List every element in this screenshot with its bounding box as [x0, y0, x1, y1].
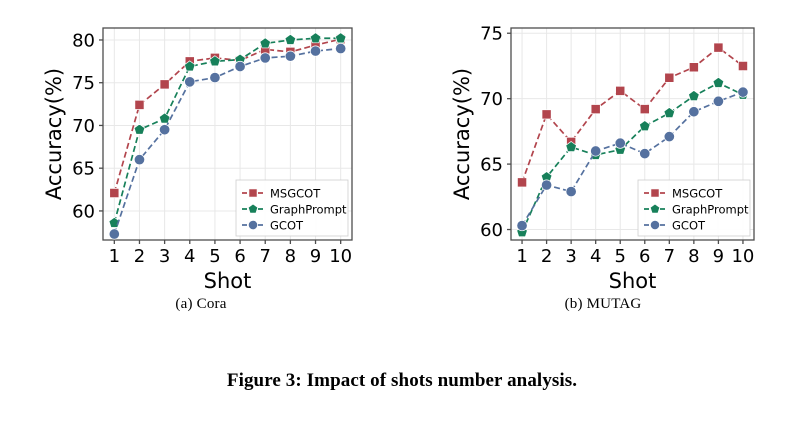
- cora-line-chart: 606570758012345678910ShotAccuracy(%)MSGC…: [0, 0, 402, 300]
- svg-text:65: 65: [72, 159, 95, 180]
- svg-text:6: 6: [234, 246, 245, 267]
- svg-text:2: 2: [541, 246, 552, 267]
- subcaption-mutag: (b) MUTAG: [402, 296, 804, 313]
- svg-text:80: 80: [72, 30, 95, 51]
- svg-text:10: 10: [329, 246, 352, 267]
- mutag-line-chart: 6065707512345678910ShotAccuracy(%)MSGCOT…: [402, 0, 804, 300]
- svg-text:60: 60: [480, 220, 503, 241]
- svg-text:Accuracy(%): Accuracy(%): [450, 68, 474, 200]
- svg-text:1: 1: [109, 246, 120, 267]
- svg-text:8: 8: [688, 246, 699, 267]
- svg-text:5: 5: [615, 246, 626, 267]
- svg-text:10: 10: [731, 246, 754, 267]
- svg-text:3: 3: [159, 246, 170, 267]
- svg-text:8: 8: [285, 246, 296, 267]
- figure-caption: Figure 3: Impact of shots number analysi…: [0, 370, 804, 392]
- chart-panel-mutag: 6065707512345678910ShotAccuracy(%)MSGCOT…: [402, 0, 804, 330]
- svg-text:GraphPrompt: GraphPrompt: [672, 203, 749, 217]
- svg-text:4: 4: [590, 246, 601, 267]
- figure-container: 606570758012345678910ShotAccuracy(%)MSGC…: [0, 0, 804, 436]
- svg-text:GCOT: GCOT: [672, 219, 706, 233]
- svg-text:70: 70: [72, 116, 95, 137]
- svg-text:9: 9: [310, 246, 321, 267]
- svg-text:70: 70: [480, 89, 503, 110]
- svg-text:75: 75: [480, 24, 503, 45]
- svg-text:Shot: Shot: [609, 269, 657, 293]
- svg-text:3: 3: [565, 246, 576, 267]
- svg-text:6: 6: [639, 246, 650, 267]
- subcaption-cora: (a) Cora: [0, 296, 402, 313]
- svg-text:65: 65: [480, 155, 503, 176]
- svg-text:2: 2: [134, 246, 145, 267]
- svg-text:1: 1: [516, 246, 527, 267]
- svg-text:75: 75: [72, 73, 95, 94]
- svg-text:60: 60: [72, 201, 95, 222]
- svg-text:MSGCOT: MSGCOT: [672, 187, 723, 201]
- svg-text:Shot: Shot: [204, 269, 252, 293]
- svg-text:5: 5: [209, 246, 220, 267]
- svg-text:GCOT: GCOT: [270, 219, 304, 233]
- chart-panel-cora: 606570758012345678910ShotAccuracy(%)MSGC…: [0, 0, 402, 330]
- svg-text:Accuracy(%): Accuracy(%): [42, 68, 66, 200]
- svg-text:7: 7: [260, 246, 271, 267]
- svg-text:MSGCOT: MSGCOT: [270, 187, 321, 201]
- svg-text:GraphPrompt: GraphPrompt: [270, 203, 347, 217]
- svg-text:7: 7: [664, 246, 675, 267]
- svg-text:4: 4: [184, 246, 195, 267]
- svg-text:9: 9: [713, 246, 724, 267]
